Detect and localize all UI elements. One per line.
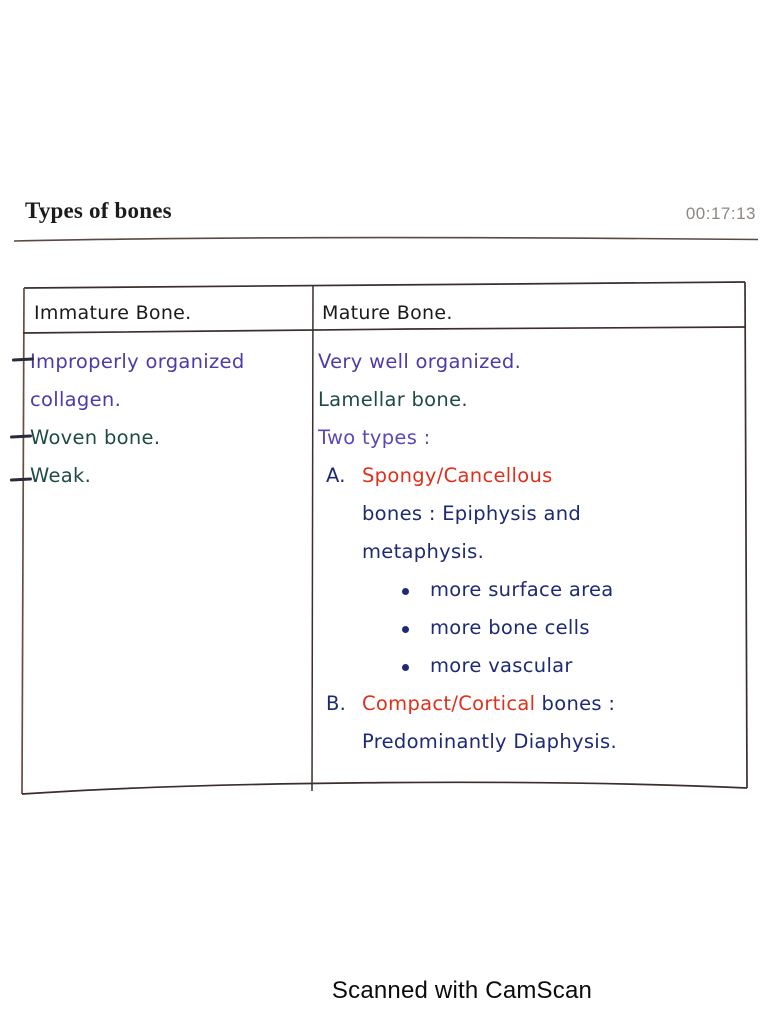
scanned-note-page: { "header": { "title": "Types of bones",… bbox=[0, 0, 768, 1024]
mature-type-a-line-2: bones : Epiphysis and bbox=[362, 495, 748, 533]
mature-type-a: A. Spongy/Cancellous bones : Epiphysis a… bbox=[318, 457, 748, 571]
mature-line-1: Very well organized. bbox=[318, 343, 748, 381]
column-header-mature: Mature Bone. bbox=[322, 302, 453, 324]
mature-type-a-highlight: Spongy/Cancellous bbox=[362, 464, 553, 487]
timestamp: 00:17:13 bbox=[686, 204, 756, 224]
camscanner-watermark: Scanned with CamScan bbox=[0, 977, 768, 1005]
immature-bone-cell: Improperly organized collagen. Woven bon… bbox=[30, 343, 305, 495]
mature-type-b-line-2: Predominantly Diaphysis. bbox=[362, 723, 748, 761]
immature-point-1: Improperly organized collagen. bbox=[30, 343, 305, 419]
mature-type-a-line-3: metaphysis. bbox=[362, 533, 748, 571]
page-title: Types of bones bbox=[25, 198, 172, 224]
camscanner-watermark-label: Scanned with CamScan bbox=[332, 977, 592, 1005]
header-divider-rule bbox=[14, 236, 758, 240]
mature-line-3: Two types : bbox=[318, 419, 748, 457]
page-header: Types of bones 00:17:13 bbox=[0, 198, 768, 238]
bullet-item-2-label: more bone cells bbox=[430, 616, 590, 639]
mature-type-b-highlight: Compact/Cortical bbox=[362, 692, 535, 715]
immature-point-1-line-2: collagen. bbox=[30, 388, 121, 411]
bullet-dot-icon bbox=[402, 588, 409, 595]
mature-type-b-line-1: Compact/Cortical bones : bbox=[362, 685, 748, 723]
bullet-dot-icon bbox=[402, 626, 409, 633]
mature-type-a-line-1: Spongy/Cancellous bbox=[362, 457, 748, 495]
bullet-item-1: more surface area bbox=[318, 571, 748, 609]
mature-type-b-rest: bones : bbox=[542, 692, 616, 715]
mature-bone-cell: Very well organized. Lamellar bone. Two … bbox=[318, 343, 748, 761]
mature-line-2: Lamellar bone. bbox=[318, 381, 748, 419]
column-header-immature: Immature Bone. bbox=[34, 302, 192, 324]
mature-type-a-marker: A. bbox=[326, 457, 346, 495]
immature-point-3: Weak. bbox=[30, 457, 305, 495]
bullet-item-1-label: more surface area bbox=[430, 578, 614, 601]
immature-point-2: Woven bone. bbox=[30, 419, 305, 457]
mature-type-b: B. Compact/Cortical bones : Predominantl… bbox=[318, 685, 748, 761]
bullet-item-3-label: more vascular bbox=[430, 654, 573, 677]
comparison-table: Immature Bone. Mature Bone. Improperly o… bbox=[0, 270, 768, 800]
bullet-item-2: more bone cells bbox=[318, 609, 748, 647]
immature-point-1-line-1: Improperly organized bbox=[30, 350, 245, 373]
bullet-dot-icon bbox=[402, 664, 409, 671]
bullet-item-3: more vascular bbox=[318, 647, 748, 685]
mature-type-b-marker: B. bbox=[326, 685, 346, 723]
